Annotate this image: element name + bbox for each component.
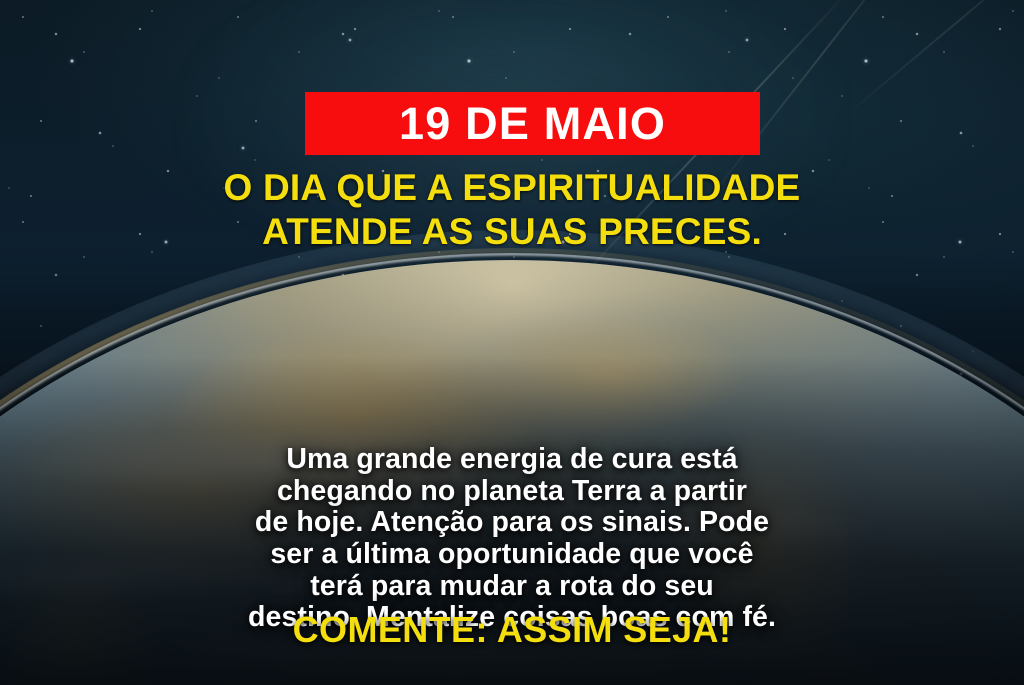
poster-content: 19 DE MAIO O DIA QUE A ESPIRITUALIDADE A… (0, 0, 1024, 685)
call-to-action: COMENTE: ASSIM SEJA! (0, 612, 1024, 648)
date-banner-label: 19 DE MAIO (399, 101, 666, 146)
body-line: Uma grande energia de cura está (52, 444, 972, 476)
date-banner: 19 DE MAIO (305, 92, 760, 155)
headline-line-2: ATENDE AS SUAS PRECES. (42, 210, 982, 254)
body-paragraph: Uma grande energia de cura está chegando… (0, 444, 1024, 634)
body-line: de hoje. Atenção para os sinais. Pode (52, 507, 972, 539)
body-line: terá para mudar a rota do seu (52, 571, 972, 603)
body-line: chegando no planeta Terra a partir (52, 476, 972, 508)
headline-line-1: O DIA QUE A ESPIRITUALIDADE (224, 167, 801, 208)
call-to-action-label: COMENTE: ASSIM SEJA! (293, 609, 732, 650)
poster-image: 19 DE MAIO O DIA QUE A ESPIRITUALIDADE A… (0, 0, 1024, 685)
headline: O DIA QUE A ESPIRITUALIDADE ATENDE AS SU… (0, 166, 1024, 253)
body-line: ser a última oportunidade que você (52, 539, 972, 571)
